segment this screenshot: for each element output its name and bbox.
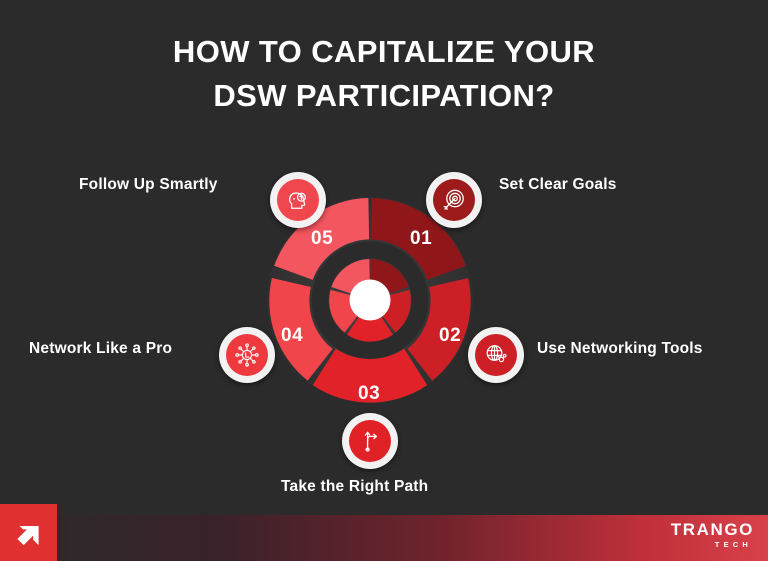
brand-tagline: TECH <box>671 541 752 549</box>
icon-badge-03[interactable] <box>342 413 398 469</box>
title-line-1: HOW TO CAPITALIZE YOUR <box>0 30 768 74</box>
network-hub-icon <box>234 342 260 368</box>
segment-label-04: Network Like a Pro <box>29 340 172 358</box>
title-line-2: DSW PARTICIPATION? <box>0 74 768 118</box>
page-title: HOW TO CAPITALIZE YOUR DSW PARTICIPATION… <box>0 30 768 118</box>
icon-badge-01[interactable] <box>426 172 482 228</box>
badge-inner-04 <box>226 334 268 376</box>
segment-number-01: 01 <box>410 228 432 250</box>
path-fork-icon <box>358 429 382 453</box>
badge-inner-01 <box>433 179 475 221</box>
brand-lockup: TRANGO TECH <box>671 521 754 549</box>
segment-label-05: Follow Up Smartly <box>79 176 218 194</box>
center-hub <box>350 280 391 321</box>
badge-inner-02 <box>475 334 517 376</box>
icon-badge-04[interactable] <box>219 327 275 383</box>
footer-band: TRANGO TECH <box>0 515 768 561</box>
badge-inner-05 <box>277 179 319 221</box>
brand-name: TRANGO <box>671 521 754 538</box>
segment-label-03: Take the Right Path <box>281 478 428 496</box>
segment-label-02: Use Networking Tools <box>537 340 703 358</box>
icon-badge-05[interactable] <box>270 172 326 228</box>
target-icon <box>442 188 466 212</box>
segment-number-03: 03 <box>358 383 380 405</box>
infographic-canvas: HOW TO CAPITALIZE YOUR DSW PARTICIPATION… <box>0 0 768 561</box>
segment-number-04: 04 <box>281 325 303 347</box>
head-growth-icon <box>286 188 311 213</box>
globe-network-icon <box>484 343 508 367</box>
icon-badge-02[interactable] <box>468 327 524 383</box>
badge-inner-03 <box>349 420 391 462</box>
logo-tile[interactable] <box>0 504 57 561</box>
segment-number-05: 05 <box>311 228 333 250</box>
segment-label-01: Set Clear Goals <box>499 176 617 194</box>
arrow-up-right-logo-icon <box>10 514 48 552</box>
segment-number-02: 02 <box>439 325 461 347</box>
